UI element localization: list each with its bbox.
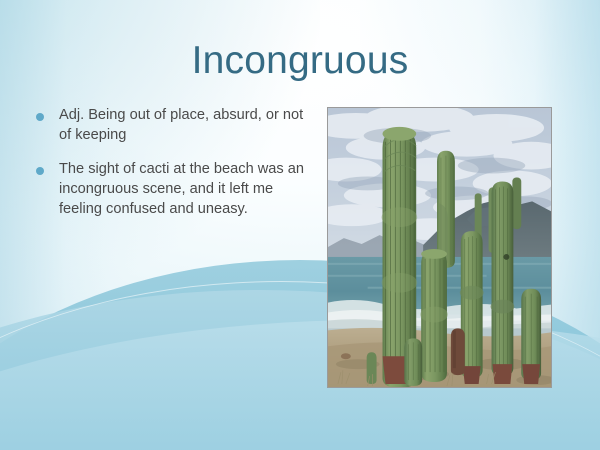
bullet-dot-icon <box>36 167 44 175</box>
bullet-dot-icon <box>36 113 44 121</box>
slide-title: Incongruous <box>0 40 600 83</box>
bullet-list-item: Adj. Being out of place, absurd, or not … <box>36 106 304 146</box>
bullet-item-text: The sight of cacti at the beach was an i… <box>59 160 304 220</box>
photo-artwork <box>328 108 551 387</box>
slide-body-content: Adj. Being out of place, absurd, or not … <box>36 106 304 234</box>
bullet-list-item: The sight of cacti at the beach was an i… <box>36 160 304 220</box>
slide-photo-cacti-on-beach <box>327 107 552 388</box>
presentation-slide: Incongruous Adj. Being out of place, abs… <box>0 0 600 450</box>
bullet-item-text: Adj. Being out of place, absurd, or not … <box>59 106 304 146</box>
